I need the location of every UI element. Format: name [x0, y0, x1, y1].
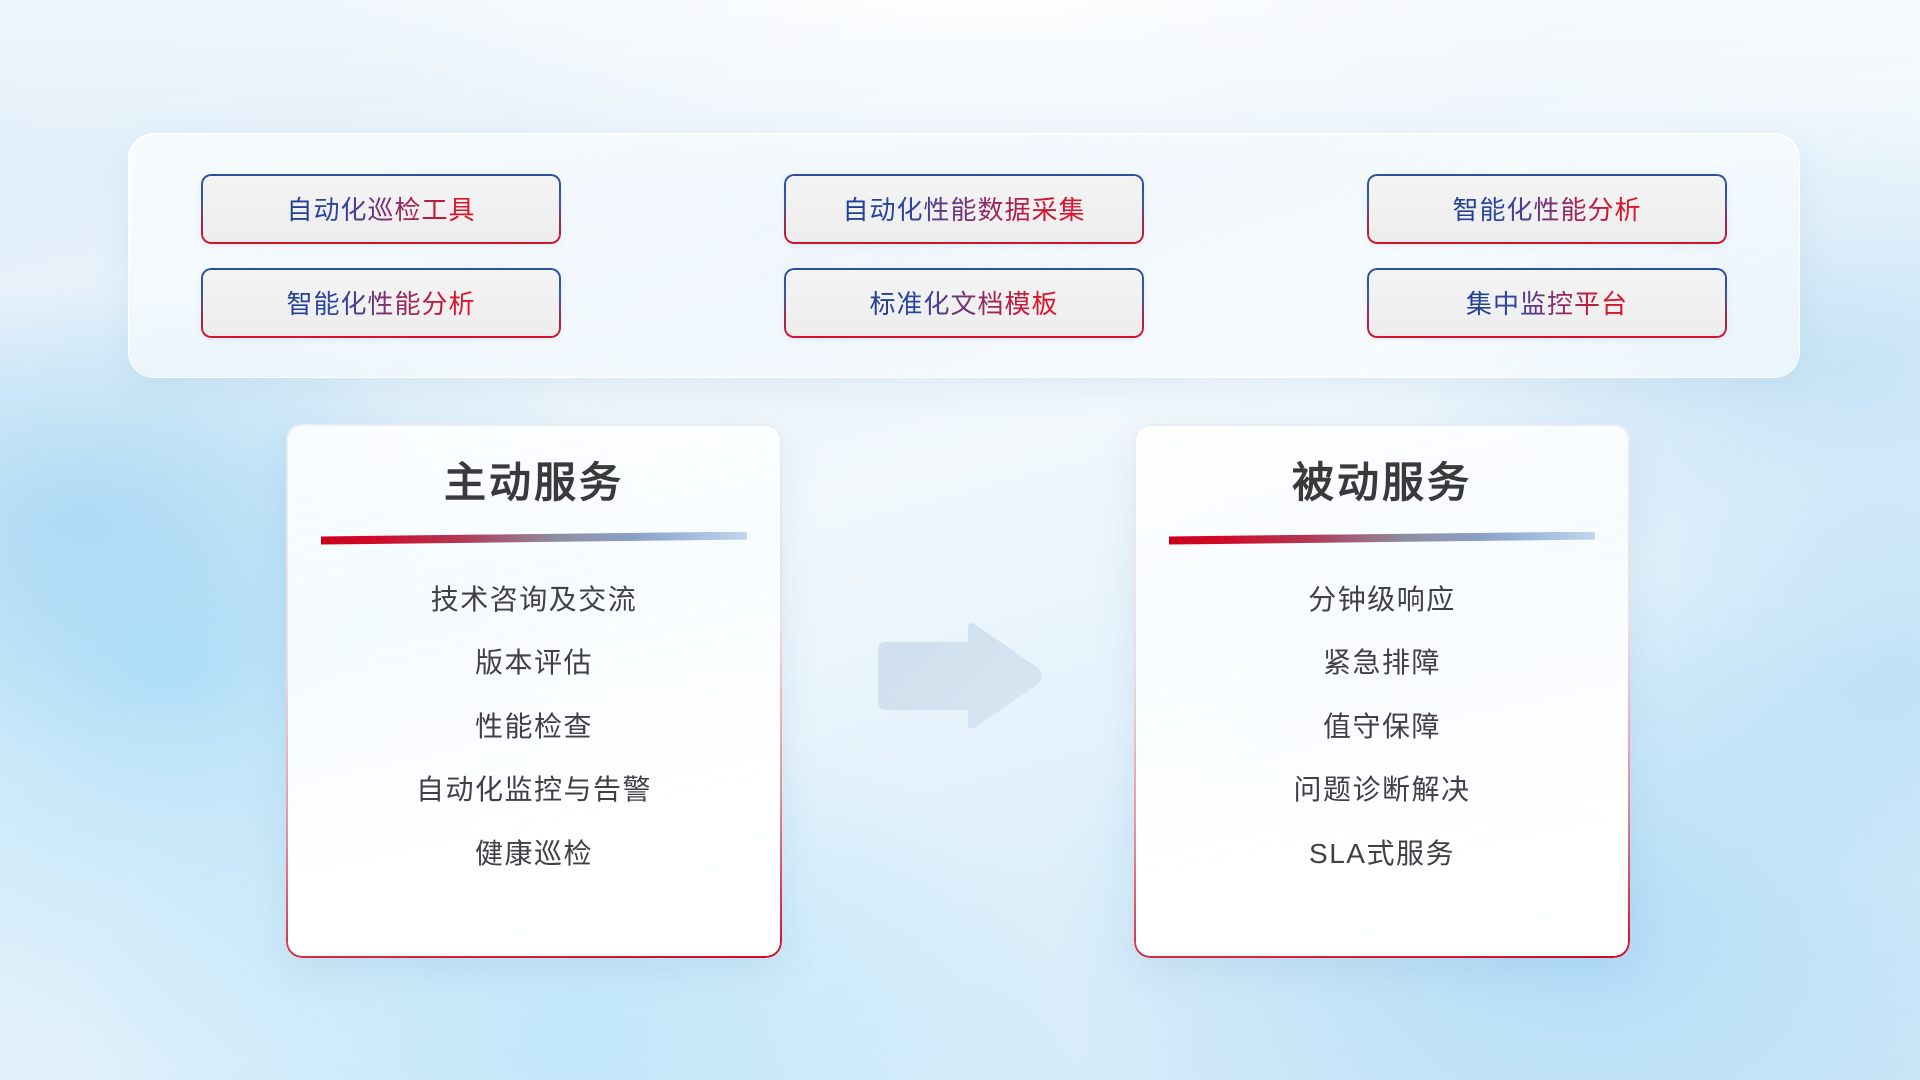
slide-canvas: 自动化巡检工具 自动化性能数据采集 智能化性能分析 智能化性能分析 标准化文档模… — [0, 0, 1920, 1080]
card-title: 被动服务 — [1164, 458, 1600, 508]
capability-chip-1-3[interactable]: 智能化性能分析 — [1367, 174, 1727, 244]
list-item: 紧急排障 — [1323, 646, 1441, 680]
capability-chip-1-1[interactable]: 自动化巡检工具 — [201, 174, 561, 244]
capability-chip-label: 集中监控平台 — [1466, 284, 1628, 321]
list-item: 健康巡检 — [475, 837, 593, 871]
list-item: 技术咨询及交流 — [431, 583, 638, 617]
capability-panel: 自动化巡检工具 自动化性能数据采集 智能化性能分析 智能化性能分析 标准化文档模… — [128, 133, 1800, 378]
capability-chip-1-2[interactable]: 自动化性能数据采集 — [784, 174, 1144, 244]
list-item: 值守保障 — [1323, 710, 1441, 744]
capability-chip-label: 标准化文档模板 — [869, 284, 1058, 321]
service-card-reactive: 被动服务 分钟级响应 紧急排障 值守保障 问题诊断解决 SLA式服务 — [1134, 424, 1630, 958]
card-title-divider — [321, 532, 747, 545]
capability-row-1: 自动化巡检工具 自动化性能数据采集 智能化性能分析 — [201, 174, 1727, 244]
list-item: 分钟级响应 — [1308, 583, 1456, 617]
arrow-right-icon — [872, 620, 1044, 732]
list-item: 自动化监控与告警 — [416, 773, 652, 807]
service-card-proactive: 主动服务 技术咨询及交流 版本评估 性能检查 自动化监控与告警 健康巡检 — [286, 424, 782, 958]
list-item: SLA式服务 — [1309, 837, 1455, 871]
card-item-list: 技术咨询及交流 版本评估 性能检查 自动化监控与告警 健康巡检 — [316, 583, 752, 871]
capability-chip-label: 智能化性能分析 — [286, 284, 475, 321]
capability-chip-2-3[interactable]: 集中监控平台 — [1367, 268, 1727, 338]
list-item: 版本评估 — [475, 646, 593, 680]
capability-chip-2-2[interactable]: 标准化文档模板 — [784, 268, 1144, 338]
card-title: 主动服务 — [316, 458, 752, 508]
capability-chip-label: 智能化性能分析 — [1452, 190, 1641, 227]
card-title-divider — [1169, 532, 1595, 545]
list-item: 问题诊断解决 — [1293, 773, 1470, 807]
capability-row-2: 智能化性能分析 标准化文档模板 集中监控平台 — [201, 268, 1727, 338]
capability-chip-label: 自动化巡检工具 — [286, 190, 475, 227]
capability-chip-2-1[interactable]: 智能化性能分析 — [201, 268, 561, 338]
list-item: 性能检查 — [475, 710, 593, 744]
card-item-list: 分钟级响应 紧急排障 值守保障 问题诊断解决 SLA式服务 — [1164, 583, 1600, 871]
capability-chip-label: 自动化性能数据采集 — [842, 190, 1085, 227]
